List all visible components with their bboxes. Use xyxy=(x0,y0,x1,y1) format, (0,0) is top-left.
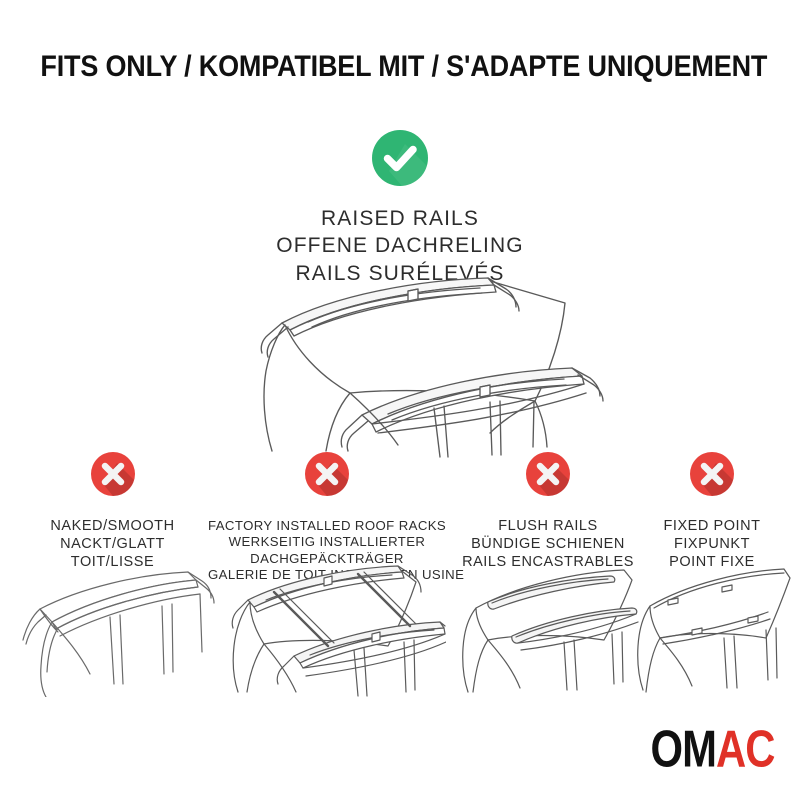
page-title-text: FITS ONLY / KOMPATIBEL MIT / S'ADAPTE UN… xyxy=(40,50,767,84)
car-roof-fixed-point-illustration xyxy=(632,562,792,697)
logo-text-ac: AC xyxy=(716,721,774,779)
label-de: FIXPUNKT xyxy=(632,536,792,554)
approved-label-en: RAISED RAILS xyxy=(0,205,800,232)
car-roof-raised-rails-illustration xyxy=(190,275,630,460)
label-en: NAKED/SMOOTH xyxy=(10,518,215,536)
label-de: NACKT/GLATT xyxy=(10,536,215,554)
car-roof-flush-rails-illustration xyxy=(452,562,644,697)
approved-label-de: OFFENE DACHRELING xyxy=(0,232,800,259)
label-de: BÜNDIGE SCHIENEN xyxy=(452,536,644,554)
x-circle-icon xyxy=(526,452,570,496)
incompatible-column-fixed-point: FIXED POINT FIXPUNKT POINT FIXE xyxy=(632,452,792,572)
car-roof-factory-roof-rack-illustration xyxy=(208,564,446,699)
incompatible-column-factory-roof-rack: FACTORY INSTALLED ROOF RACKS WERKSEITIG … xyxy=(208,452,446,583)
car-roof-naked-smooth-illustration xyxy=(10,562,215,697)
omac-logo: OMAC xyxy=(644,732,774,776)
incompatible-column-naked-smooth: NAKED/SMOOTH NACKT/GLATT TOIT/LISSE xyxy=(10,452,215,572)
x-circle-icon xyxy=(690,452,734,496)
compatibility-infographic: FITS ONLY / KOMPATIBEL MIT / S'ADAPTE UN… xyxy=(0,0,800,800)
label-en: FIXED POINT xyxy=(632,518,792,536)
logo-text-om: OM xyxy=(650,721,715,779)
incompatible-column-flush-rails: FLUSH RAILS BÜNDIGE SCHIENEN RAILS ENCAS… xyxy=(452,452,644,572)
label-de-1: WERKSEITIG INSTALLIERTER xyxy=(208,534,446,550)
check-circle-icon xyxy=(372,130,428,186)
approved-section: RAISED RAILS OFFENE DACHRELING RAILS SUR… xyxy=(0,130,800,287)
label-en: FACTORY INSTALLED ROOF RACKS xyxy=(208,518,446,534)
x-circle-icon xyxy=(91,452,135,496)
label-en: FLUSH RAILS xyxy=(452,518,644,536)
x-circle-icon xyxy=(305,452,349,496)
page-title: FITS ONLY / KOMPATIBEL MIT / S'ADAPTE UN… xyxy=(0,50,800,84)
